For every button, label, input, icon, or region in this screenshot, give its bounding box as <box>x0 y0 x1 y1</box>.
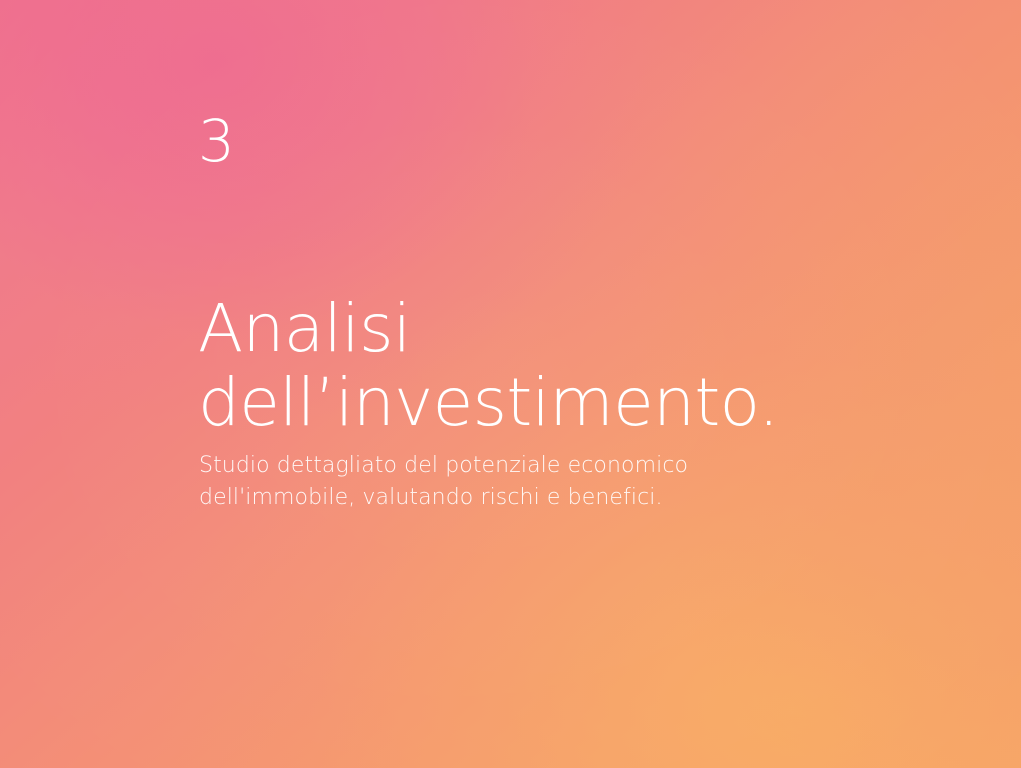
page-subtitle: Studio dettagliato del potenziale econom… <box>199 450 839 514</box>
section-number: 3 <box>198 110 235 172</box>
page-title-line-2: dell’investimento. <box>198 366 968 440</box>
section-divider-slide: 3 Analisi dell’investimento. Studio dett… <box>0 0 1021 768</box>
page-subtitle-line-1: Studio dettagliato del potenziale econom… <box>199 450 839 482</box>
slide-content: 3 Analisi dell’investimento. Studio dett… <box>0 0 1021 768</box>
page-subtitle-line-2: dell'immobile, valutando rischi e benefi… <box>199 482 839 514</box>
page-title-line-1: Analisi <box>198 292 968 366</box>
page-title: Analisi dell’investimento. <box>198 292 968 440</box>
